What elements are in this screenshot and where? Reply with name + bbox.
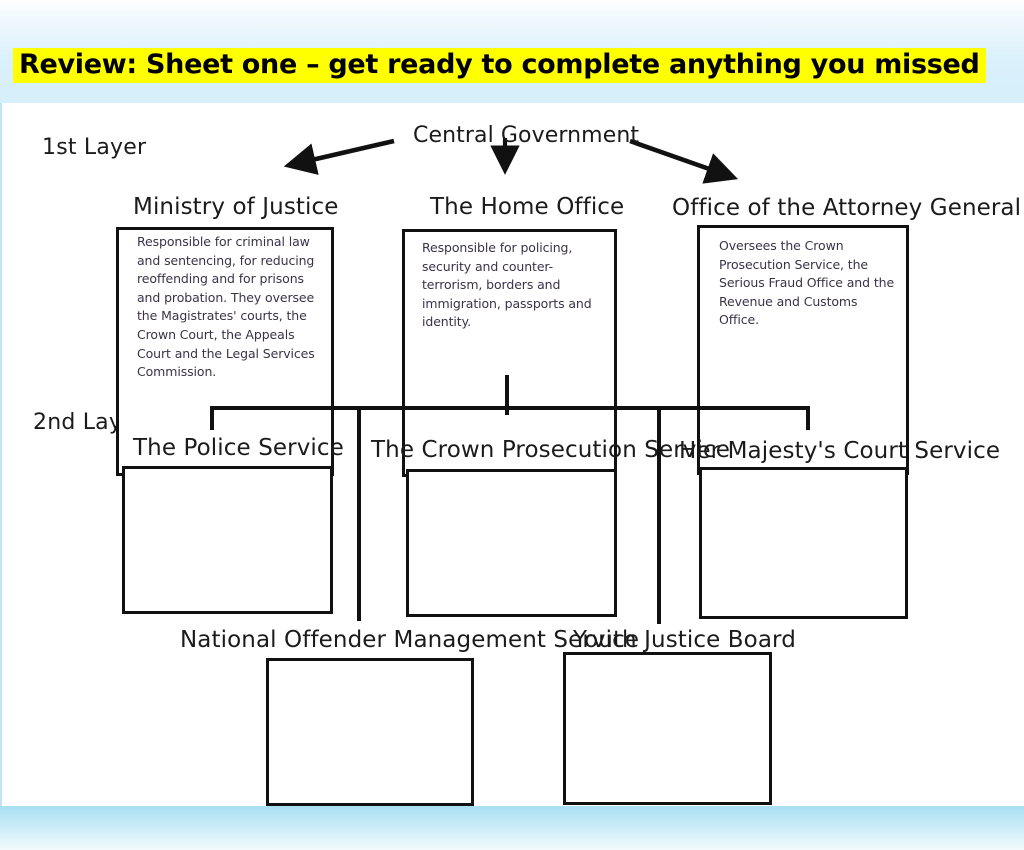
node-title-central-government: Central Government: [413, 123, 639, 148]
node-title-police-service: The Police Service: [133, 435, 344, 461]
node-title-youth-justice-board: Youth Justice Board: [573, 627, 796, 653]
node-box-police-service[interactable]: [122, 466, 333, 614]
slide: Review: Sheet one – get ready to complet…: [0, 0, 1024, 850]
page-title: Review: Sheet one – get ready to complet…: [19, 49, 980, 80]
node-body-attorney-general: Oversees the Crown Prosecution Service, …: [719, 237, 899, 330]
node-box-crown-prosecution-service[interactable]: [406, 469, 617, 617]
node-body-ministry-of-justice: Responsible for criminal law and sentenc…: [137, 233, 321, 382]
node-title-crown-prosecution-service: The Crown Prosecution Service: [371, 437, 730, 463]
node-box-youth-justice-board[interactable]: [563, 652, 772, 805]
arrow-to-ministry-of-justice: [290, 141, 394, 165]
node-box-national-offender-management-service[interactable]: [266, 658, 474, 806]
connector-drop-police-service: [210, 406, 214, 430]
node-body-home-office: Responsible for policing, security and c…: [422, 239, 604, 332]
connector-drop-national-offender: [357, 406, 361, 621]
node-title-national-offender-management-service: National Offender Management Service: [180, 627, 639, 653]
node-title-attorney-general: Office of the Attorney General: [672, 195, 1021, 221]
node-title-ministry-of-justice: Ministry of Justice: [133, 194, 339, 220]
slide-bottom-accent-band: [0, 806, 1024, 850]
connector-bus: [210, 406, 810, 410]
slide-title-highlight: Review: Sheet one – get ready to complet…: [13, 48, 986, 83]
node-box-court-service[interactable]: [699, 467, 908, 619]
node-title-home-office: The Home Office: [430, 194, 624, 220]
node-title-court-service: Her Majesty's Court Service: [679, 438, 1000, 464]
arrow-to-attorney-general: [630, 141, 732, 177]
diagram-canvas: 1st Layer 2nd Layer Central Government M…: [0, 103, 1024, 806]
connector-drop-court-service: [806, 406, 810, 430]
layer-label-1: 1st Layer: [42, 135, 146, 160]
